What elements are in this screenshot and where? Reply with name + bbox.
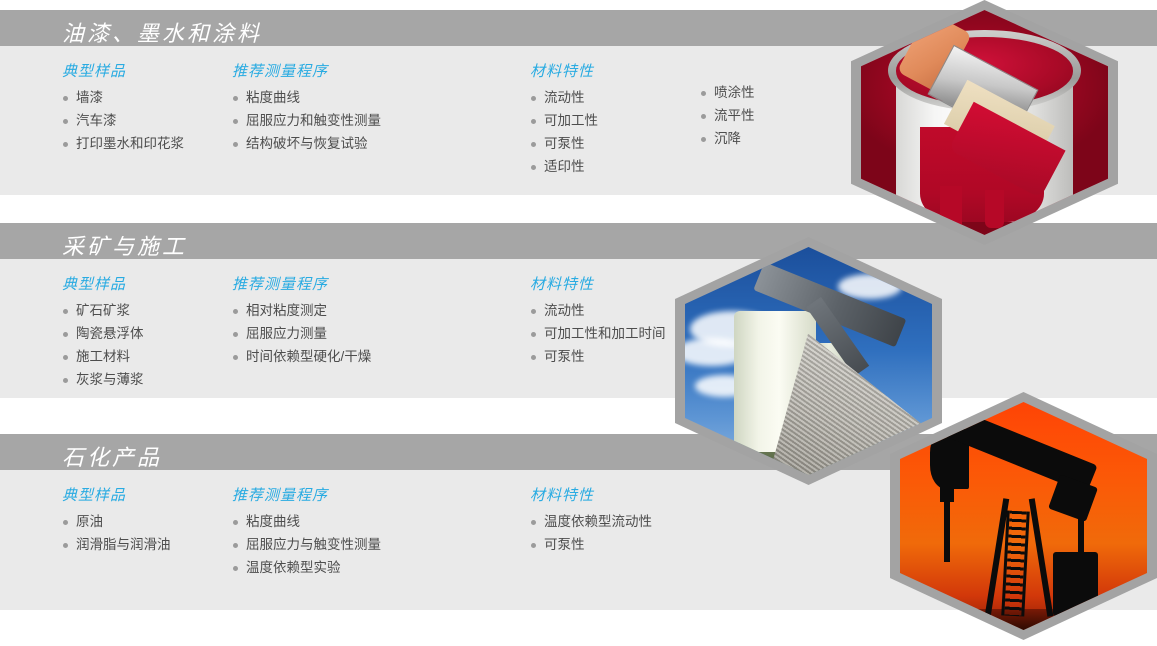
column-recommended-procedures: 推荐测量程序 粘度曲线 屈服应力与触变性测量 温度依赖型实验 [232,484,522,580]
list-item: 屈服应力与触变性测量 [232,534,522,556]
list-item: 打印墨水和印花浆 [62,133,227,155]
list-item: 粘度曲线 [232,511,522,533]
hexagon-image-petrochemicals [890,392,1157,640]
list-item: 相对粘度测定 [232,300,522,322]
column-typical-samples: 典型样品 原油 润滑脂与润滑油 [62,484,227,557]
list-item: 时间依赖型硬化/干燥 [232,346,522,368]
samples-list: 矿石矿浆 陶瓷悬浮体 施工材料 灰浆与薄浆 [62,300,227,391]
section-mining: 采矿与施工 典型样品 矿石矿浆 陶瓷悬浮体 施工材料 灰浆与薄浆 推荐测量程序 … [0,223,1157,398]
column-material-properties-continued: 喷涂性 流平性 沉降 [700,82,850,151]
list-item: 结构破坏与恢复试验 [232,133,522,155]
list-item: 流动性 [530,87,690,109]
list-item: 矿石矿浆 [62,300,227,322]
procedures-list: 粘度曲线 屈服应力和触变性测量 结构破坏与恢复试验 [232,87,522,155]
column-recommended-procedures: 推荐测量程序 相对粘度测定 屈服应力测量 时间依赖型硬化/干燥 [232,273,522,369]
list-item: 温度依赖型流动性 [530,511,730,533]
column-heading: 推荐测量程序 [232,273,522,294]
list-item: 屈服应力和触变性测量 [232,110,522,132]
column-heading: 材料特性 [530,273,680,294]
pumpjack-polished-rod [944,484,949,562]
pumpjack-ladder [1001,511,1030,617]
column-heading: 推荐测量程序 [232,484,522,505]
procedures-list: 粘度曲线 屈服应力与触变性测量 温度依赖型实验 [232,511,522,579]
list-item: 温度依赖型实验 [232,557,522,579]
list-item: 屈服应力测量 [232,323,522,345]
samples-list: 墙漆 汽车漆 打印墨水和印花浆 [62,87,227,155]
section-title: 石化产品 [62,440,162,472]
list-item: 可泵性 [530,133,690,155]
column-material-properties: 材料特性 流动性 可加工性和加工时间 可泵性 [530,273,680,369]
column-recommended-procedures: 推荐测量程序 粘度曲线 屈服应力和触变性测量 结构破坏与恢复试验 [232,60,522,156]
column-heading: 典型样品 [62,273,227,294]
list-item: 可泵性 [530,534,730,556]
column-typical-samples: 典型样品 矿石矿浆 陶瓷悬浮体 施工材料 灰浆与薄浆 [62,273,227,392]
paint-drip [985,190,1005,228]
column-typical-samples: 典型样品 墙漆 汽车漆 打印墨水和印花浆 [62,60,227,156]
list-item: 可加工性 [530,110,690,132]
pumpjack-samson-post-right [1029,498,1054,616]
column-heading: 推荐测量程序 [232,60,522,81]
properties-list: 流动性 可加工性 可泵性 适印性 [530,87,690,178]
column-heading: 材料特性 [530,484,730,505]
list-item: 陶瓷悬浮体 [62,323,227,345]
list-item: 墙漆 [62,87,227,109]
list-item: 润滑脂与润滑油 [62,534,227,556]
list-item: 汽车漆 [62,110,227,132]
section-title: 油漆、墨水和涂料 [62,16,262,48]
list-item: 适印性 [530,156,690,178]
list-item: 施工材料 [62,346,227,368]
list-item: 喷涂性 [700,82,850,104]
properties-list: 温度依赖型流动性 可泵性 [530,511,730,556]
list-item: 流动性 [530,300,680,322]
list-item: 流平性 [700,105,850,127]
infographic-page: 油漆、墨水和涂料 典型样品 墙漆 汽车漆 打印墨水和印花浆 推荐测量程序 粘度曲… [0,0,1157,640]
properties-list: 流动性 可加工性和加工时间 可泵性 [530,300,680,368]
column-heading: 材料特性 [530,60,690,81]
column-heading: 典型样品 [62,60,227,81]
list-item: 可泵性 [530,346,680,368]
section-title: 采矿与施工 [62,229,187,261]
list-item: 粘度曲线 [232,87,522,109]
list-item: 灰浆与薄浆 [62,369,227,391]
column-material-properties: 材料特性 流动性 可加工性 可泵性 适印性 [530,60,690,179]
column-material-properties: 材料特性 温度依赖型流动性 可泵性 [530,484,730,557]
list-item: 可加工性和加工时间 [530,323,680,345]
properties-list-extra: 喷涂性 流平性 沉降 [700,82,850,150]
list-item: 原油 [62,511,227,533]
procedures-list: 相对粘度测定 屈服应力测量 时间依赖型硬化/干燥 [232,300,522,368]
list-item: 沉降 [700,128,850,150]
samples-list: 原油 润滑脂与润滑油 [62,511,227,556]
hexagon-image-paints [851,0,1118,245]
column-heading: 典型样品 [62,484,227,505]
